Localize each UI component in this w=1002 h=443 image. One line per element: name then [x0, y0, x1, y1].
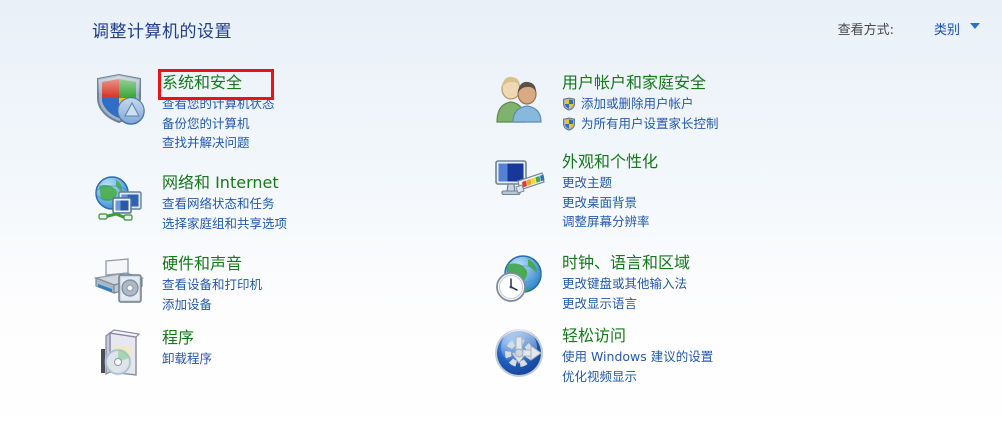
- category-link[interactable]: 更改桌面背景: [562, 193, 912, 213]
- users-icon[interactable]: [492, 72, 548, 128]
- category-link-label: 优化视频显示: [562, 369, 637, 384]
- category-title-programs[interactable]: 程序: [162, 327, 512, 349]
- category-title-appearance-and-personalization[interactable]: 外观和个性化: [562, 151, 912, 173]
- category-link[interactable]: 查看网络状态和任务: [162, 194, 512, 214]
- category-link-label: 更改显示语言: [562, 296, 637, 311]
- category-link[interactable]: 更改显示语言: [562, 294, 912, 314]
- category-link[interactable]: 优化视频显示: [562, 367, 912, 387]
- control-panel-window: 调整计算机的设置 查看方式: 类别 系统和安全查看您的计算机状态备份您的计算机查…: [0, 0, 1002, 443]
- view-by-label: 查看方式:: [838, 19, 894, 38]
- category-link-label: 卸载程序: [162, 351, 212, 366]
- category-link[interactable]: 更改主题: [562, 173, 912, 193]
- category-title-ease-of-access[interactable]: 轻松访问: [562, 325, 912, 347]
- category-link-label: 为所有用户设置家长控制: [581, 116, 719, 131]
- category-link-label: 备份您的计算机: [162, 116, 250, 131]
- panel-header: 调整计算机的设置 查看方式: 类别: [0, 0, 1002, 56]
- category-link-label: 查看网络状态和任务: [162, 196, 275, 211]
- category-link-label: 查找并解决问题: [162, 135, 250, 150]
- category-link-label: 选择家庭组和共享选项: [162, 216, 287, 231]
- category-link-label: 添加设备: [162, 297, 212, 312]
- category-body: 程序卸载程序: [162, 327, 512, 369]
- category-link[interactable]: 调整屏幕分辨率: [562, 212, 912, 232]
- category-title-clock-language-and-region[interactable]: 时钟、语言和区域: [562, 252, 912, 274]
- category-title-hardware-and-sound[interactable]: 硬件和声音: [162, 253, 512, 275]
- category-link[interactable]: 更改键盘或其他输入法: [562, 274, 912, 294]
- category-link[interactable]: 选择家庭组和共享选项: [162, 214, 512, 234]
- category-title-network-and-internet[interactable]: 网络和 Internet: [162, 172, 512, 194]
- category-body: 轻松访问使用 Windows 建议的设置优化视频显示: [562, 325, 912, 386]
- category-link-label: 更改桌面背景: [562, 195, 637, 210]
- category-body: 外观和个性化更改主题更改桌面背景调整屏幕分辨率: [562, 151, 912, 232]
- category-link[interactable]: 查看设备和打印机: [162, 275, 512, 295]
- category-link[interactable]: 备份您的计算机: [162, 114, 512, 134]
- globe-clock-icon[interactable]: [492, 252, 548, 308]
- category-body: 用户帐户和家庭安全添加或删除用户帐户为所有用户设置家长控制: [562, 72, 912, 133]
- category-link-label: 添加或删除用户帐户: [581, 96, 694, 111]
- software-box-icon[interactable]: [92, 327, 148, 383]
- category-title-user-accounts-and-family-safety[interactable]: 用户帐户和家庭安全: [562, 72, 912, 94]
- network-globe-icon[interactable]: [92, 172, 148, 228]
- category-link[interactable]: 卸载程序: [162, 349, 512, 369]
- accessibility-icon[interactable]: [492, 325, 548, 381]
- category-title-system-and-security[interactable]: 系统和安全: [162, 72, 512, 94]
- view-by-value[interactable]: 类别: [934, 19, 960, 38]
- category-link-label: 更改主题: [562, 175, 612, 190]
- category-link[interactable]: 添加或删除用户帐户: [562, 94, 912, 114]
- category-link[interactable]: 使用 Windows 建议的设置: [562, 347, 912, 367]
- shield-icon[interactable]: [92, 72, 148, 128]
- category-body: 时钟、语言和区域更改键盘或其他输入法更改显示语言: [562, 252, 912, 313]
- category-link-label: 查看您的计算机状态: [162, 96, 275, 111]
- monitor-palette-icon[interactable]: [492, 151, 548, 207]
- category-link[interactable]: 添加设备: [162, 295, 512, 315]
- category-body: 硬件和声音查看设备和打印机添加设备: [162, 253, 512, 314]
- uac-shield-icon: [562, 117, 576, 131]
- category-link[interactable]: 为所有用户设置家长控制: [562, 114, 912, 134]
- category-body: 系统和安全查看您的计算机状态备份您的计算机查找并解决问题: [162, 72, 512, 153]
- category-link-label: 使用 Windows 建议的设置: [562, 349, 713, 364]
- chevron-down-icon[interactable]: [970, 23, 980, 29]
- uac-shield-icon: [562, 97, 576, 111]
- category-link[interactable]: 查看您的计算机状态: [162, 94, 512, 114]
- category-link-label: 更改键盘或其他输入法: [562, 276, 687, 291]
- page-title: 调整计算机的设置: [92, 17, 232, 42]
- category-link-label: 调整屏幕分辨率: [562, 214, 650, 229]
- category-link-label: 查看设备和打印机: [162, 277, 262, 292]
- category-body: 网络和 Internet查看网络状态和任务选择家庭组和共享选项: [162, 172, 512, 233]
- printer-speaker-icon[interactable]: [92, 253, 148, 309]
- category-link[interactable]: 查找并解决问题: [162, 133, 512, 153]
